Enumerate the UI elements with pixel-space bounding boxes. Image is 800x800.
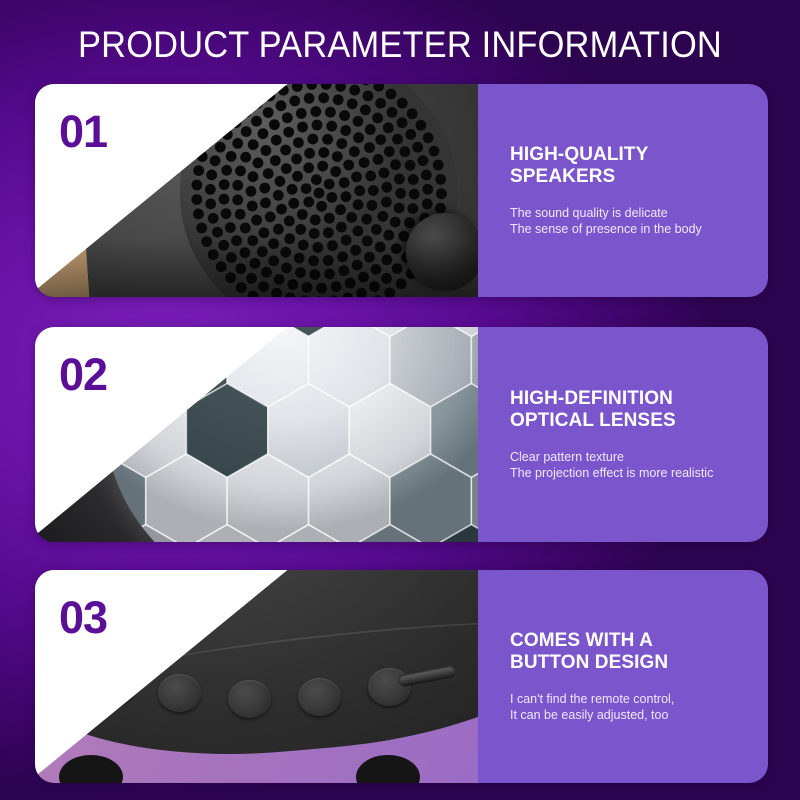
page-title: PRODUCT PARAMETER INFORMATION — [28, 22, 772, 68]
feature-subtext-2: Clear pattern texture The projection eff… — [510, 449, 768, 481]
feature-card-1: 01 HIGH-QUALITY SPEAKERS The sound quali… — [35, 84, 768, 297]
control-button-2 — [158, 674, 201, 712]
feature-subtext-1: The sound quality is delicate The sense … — [510, 205, 768, 237]
card-number-1: 01 — [59, 106, 107, 158]
feature-card-2: 02 HIGH-DEFINITION OPTICAL LENSES Clear … — [35, 327, 768, 542]
control-button-3 — [228, 680, 271, 718]
photo-shadow — [35, 239, 478, 297]
feature-card-3: 03 COMES WITH A BUTTON DESIGN I can't fi… — [35, 570, 768, 783]
feature-text-panel-2: HIGH-DEFINITION OPTICAL LENSES Clear pat… — [478, 327, 768, 542]
control-buttons-photo: 03 — [35, 570, 478, 783]
card-number-2: 02 — [59, 349, 107, 401]
feature-heading-3: COMES WITH A BUTTON DESIGN — [510, 630, 768, 674]
feature-heading-1: HIGH-QUALITY SPEAKERS — [510, 144, 768, 188]
feature-heading-2: HIGH-DEFINITION OPTICAL LENSES — [510, 388, 768, 432]
feature-subtext-3: I can't find the remote control, It can … — [510, 691, 768, 723]
card-number-3: 03 — [59, 592, 107, 644]
feature-text-panel-1: HIGH-QUALITY SPEAKERS The sound quality … — [478, 84, 768, 297]
infographic-page: PRODUCT PARAMETER INFORMATION — [0, 0, 800, 800]
feature-text-panel-3: COMES WITH A BUTTON DESIGN I can't find … — [478, 570, 768, 783]
speaker-grille-photo: 01 — [35, 84, 478, 297]
crystal-lens-dome-photo: 02 — [35, 327, 478, 542]
control-button-4 — [298, 678, 341, 716]
